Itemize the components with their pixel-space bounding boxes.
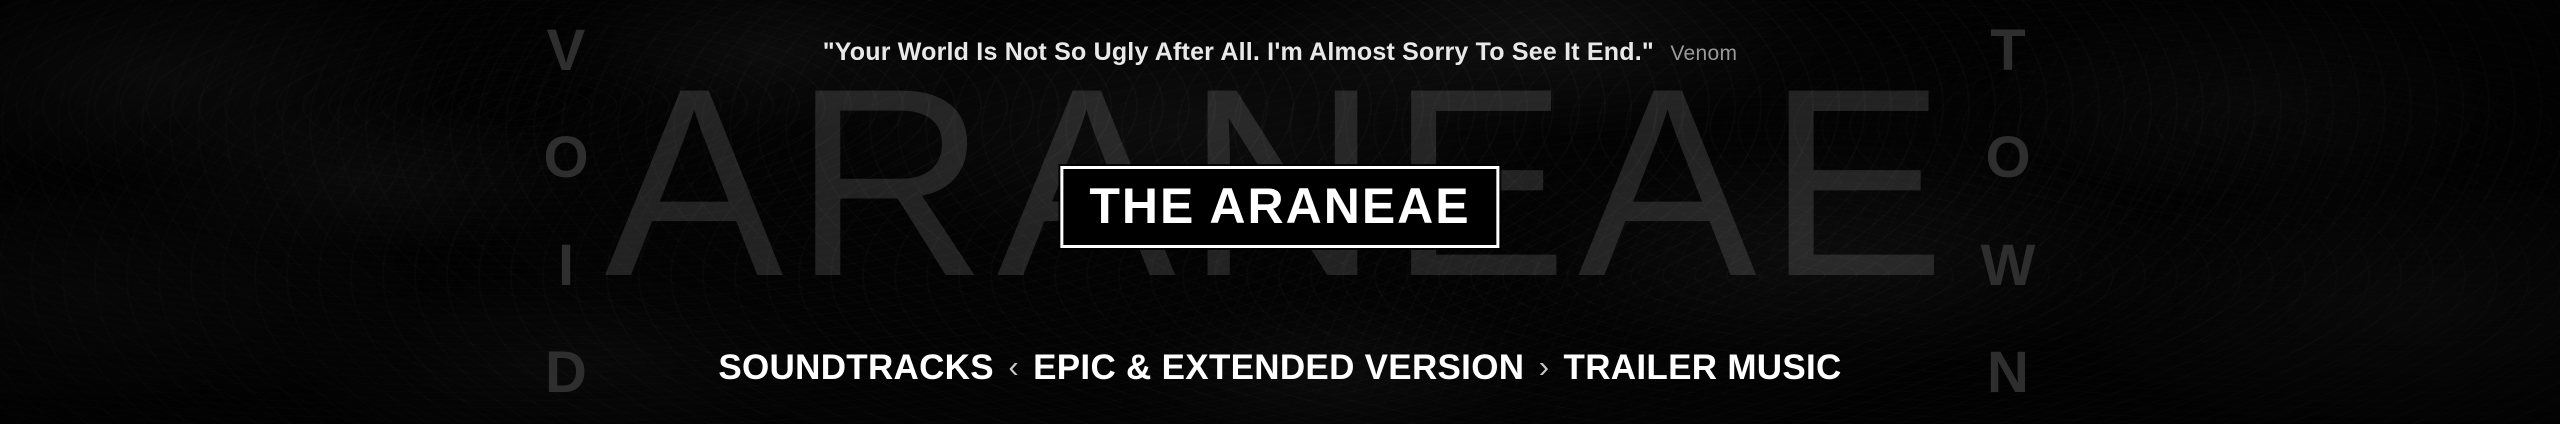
quote-row: "Your World Is Not So Ugly After All. I'… bbox=[0, 38, 2560, 67]
breadcrumb-separator-left-chevron-icon: ‹ bbox=[1008, 349, 1018, 384]
breadcrumb: SOUNDTRACKS ‹ EPIC & EXTENDED VERSION › … bbox=[0, 348, 2560, 388]
side-word-town: T O W N bbox=[1972, 22, 2044, 402]
side-word-void: V O I D bbox=[530, 22, 602, 402]
breadcrumb-item-trailer-music[interactable]: TRAILER MUSIC bbox=[1564, 348, 1842, 387]
site-banner: ARANEAE V O I D T O W N "Your World Is N… bbox=[0, 0, 2560, 424]
side-left-letter-3: I bbox=[558, 237, 574, 295]
side-right-letter-2: O bbox=[1985, 129, 2030, 187]
quote-text: "Your World Is Not So Ugly After All. I'… bbox=[823, 38, 1654, 66]
breadcrumb-item-epic-extended-version[interactable]: EPIC & EXTENDED VERSION bbox=[1033, 348, 1524, 387]
side-left-letter-2: O bbox=[543, 129, 588, 187]
site-logo-label: THE ARANEAE bbox=[1089, 181, 1470, 231]
breadcrumb-separator-right-chevron-icon: › bbox=[1539, 349, 1549, 384]
site-logo-box[interactable]: THE ARANEAE bbox=[1060, 166, 1499, 248]
quote-author: Venom bbox=[1670, 42, 1737, 65]
side-right-letter-3: W bbox=[1981, 237, 2036, 295]
breadcrumb-item-soundtracks[interactable]: SOUNDTRACKS bbox=[718, 348, 994, 387]
